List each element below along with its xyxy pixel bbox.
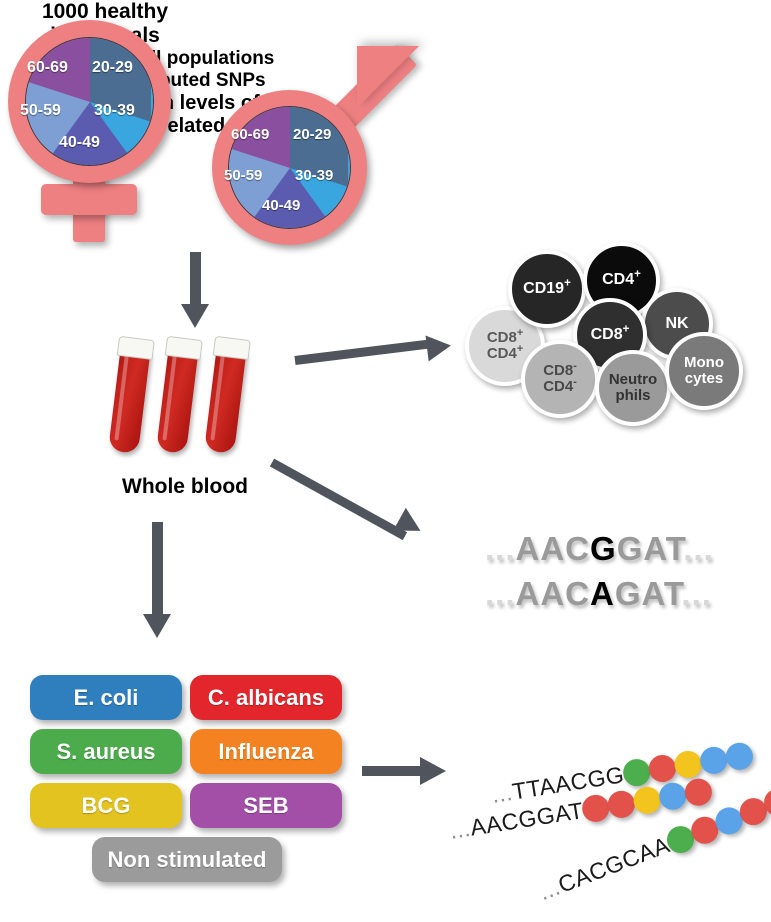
stimulus-influenza[interactable]: Influenza (190, 729, 342, 774)
cell-label: CD8 (591, 326, 623, 343)
expression-dot (647, 753, 678, 784)
arrow-shaft (362, 766, 424, 776)
stimuli-group: E. coli C. albicans S. aureus Influenza … (30, 675, 350, 895)
pie-label-30-39: 30-39 (295, 167, 333, 184)
arrow-head (181, 304, 209, 328)
blood-tube (156, 336, 200, 454)
arrow-shaft (152, 522, 163, 617)
snp-left: AAC (516, 575, 591, 612)
cell-sup: + (623, 323, 630, 335)
snp-row: ...AACAGAT... (485, 575, 712, 613)
stimulus-label: BCG (82, 793, 131, 819)
arrow-cohort-to-blood (178, 252, 212, 330)
cell-sup-2: - (573, 376, 577, 388)
stimulus-s-aureus[interactable]: S. aureus (30, 729, 182, 774)
cell-sup-1: - (573, 360, 577, 372)
arrow-head (426, 333, 453, 362)
cell-label: CD4 (602, 271, 634, 288)
strand-bases: CACGCAA (554, 831, 673, 897)
cell-monocytes: Mono cytes (665, 332, 743, 410)
pie-label-50-59: 50-59 (20, 102, 61, 120)
blood-tube (204, 336, 248, 454)
pie-label-40-49: 40-49 (262, 197, 300, 214)
stimulus-label: E. coli (74, 685, 139, 711)
snp-right: GAT (615, 575, 682, 612)
arrow-blood-to-stimuli (140, 522, 174, 642)
stimulus-label: S. aureus (56, 739, 155, 765)
cell-label-line1: Mono (684, 354, 724, 371)
pie-label-60-69: 60-69 (27, 59, 68, 77)
cell-label-line2: cytes (685, 370, 723, 387)
expression-dot (724, 741, 755, 772)
snp-prefix: ... (485, 530, 516, 567)
expression-dot (657, 781, 688, 812)
expression-dot (632, 785, 663, 816)
cell-sup-2: + (517, 343, 523, 355)
whole-blood-label: Whole blood (90, 475, 280, 499)
stimulus-label: Influenza (218, 739, 313, 765)
snp-suffix: ... (681, 575, 712, 612)
cell-cd19: CD19+ (508, 250, 586, 328)
cell-sup: + (564, 277, 571, 289)
cell-sup-1: + (517, 327, 523, 339)
stimulus-seb[interactable]: SEB (190, 783, 342, 828)
cell-label-line1: CD8 (543, 362, 573, 379)
pie-label-60-69: 60-69 (231, 126, 269, 143)
arrow-blood-to-immune (295, 330, 465, 380)
cell-cd8neg-cd4neg: CD8- CD4- (521, 340, 599, 418)
tube-neck (213, 336, 251, 360)
stimulus-label: Non stimulated (108, 847, 267, 873)
stimulus-e-coli[interactable]: E. coli (30, 675, 182, 720)
immune-cell-cluster: CD8+ CD4+ CD19+ CD4+ NK CD8+ CD8- CD4- N… (455, 240, 755, 420)
tube-neck (117, 336, 155, 360)
arrow-shaft (190, 252, 201, 307)
snp-left: AAC (516, 530, 591, 567)
snp-prefix: ... (485, 575, 516, 612)
snp-row: ...AACGGAT... (485, 530, 714, 568)
arrow-shaft (294, 339, 430, 365)
stimulus-label: SEB (243, 793, 288, 819)
cell-label-line2: phils (615, 387, 650, 404)
cell-label: NK (665, 316, 688, 333)
expression-dot (683, 777, 714, 808)
cell-label-line1: CD8 (487, 329, 517, 346)
arrow-head (143, 614, 171, 638)
expression-dot (672, 749, 703, 780)
pie-label-50-59: 50-59 (224, 167, 262, 184)
stimulus-c-albicans[interactable]: C. albicans (190, 675, 342, 720)
pie-label-20-29: 20-29 (293, 126, 331, 143)
pie-label-40-49: 40-49 (59, 134, 100, 152)
pie-label-20-29: 20-29 (92, 59, 133, 77)
snp-variant: G (590, 530, 617, 567)
male-arrow-head (357, 46, 419, 108)
cell-label: CD19 (523, 280, 564, 297)
snp-variant: A (590, 575, 615, 612)
blood-tube (108, 336, 152, 454)
cell-sup: + (634, 269, 641, 281)
expression-dot (698, 745, 729, 776)
snp-right: GAT (617, 530, 684, 567)
pie-label-30-39: 30-39 (94, 102, 135, 120)
cell-neutrophils: Neutro phils (595, 350, 671, 426)
expression-strand-group: ...TTAACGG ...AACGGAT ...CACGCAA (440, 740, 771, 915)
male-symbol: 20-29 30-39 40-49 50-59 60-69 (210, 50, 425, 245)
female-symbol: 20-29 30-39 40-49 50-59 60-69 (8, 12, 188, 237)
cell-label-line2: CD4 (543, 378, 573, 395)
strand-sequence: ...CACGCAA (535, 831, 673, 906)
female-stem-horizontal (41, 184, 137, 215)
tube-neck (165, 336, 203, 360)
snp-suffix: ... (683, 530, 714, 567)
arrow-blood-to-snps (272, 450, 457, 550)
arrow-shaft (270, 459, 407, 541)
cell-label-line1: Neutro (609, 371, 657, 388)
expression-dot (606, 789, 637, 820)
cell-label-line2: CD4 (487, 345, 517, 362)
stimulus-label: C. albicans (208, 685, 324, 711)
stimulus-non-stimulated[interactable]: Non stimulated (92, 837, 282, 882)
stimulus-bcg[interactable]: BCG (30, 783, 182, 828)
snp-sequences: ...AACGGAT... ...AACAGAT... (460, 530, 760, 620)
